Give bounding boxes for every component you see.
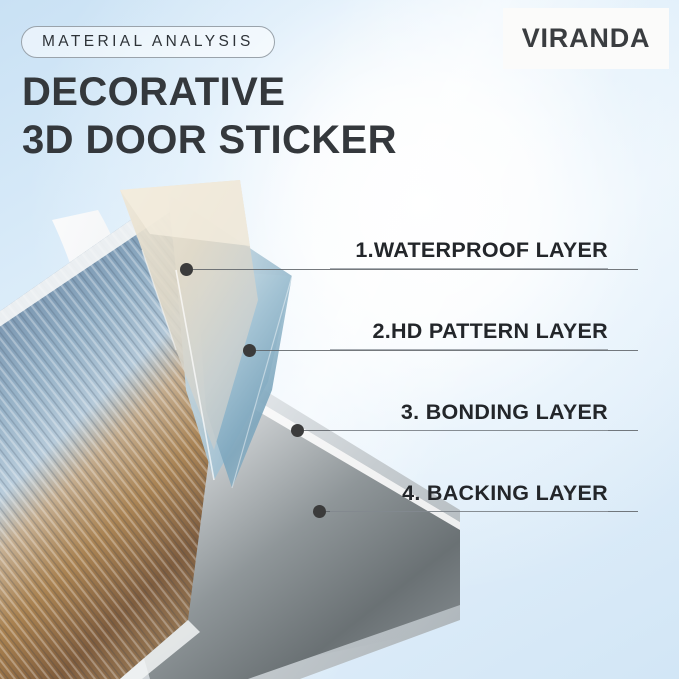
layer-dot-1 — [180, 263, 193, 276]
layer-dot-4 — [313, 505, 326, 518]
layer-label-3-text: 3. BONDING LAYER — [330, 400, 608, 425]
layer-dot-2 — [243, 344, 256, 357]
material-analysis-badge: MATERIAL ANALYSIS — [21, 26, 275, 58]
page-title-line-1: DECORATIVE — [22, 68, 482, 116]
leader-line-2 — [256, 350, 638, 351]
layer-label-1: 1.WATERPROOF LAYER — [330, 238, 608, 269]
layer-label-4-rule — [330, 511, 608, 512]
layer-label-1-rule — [330, 268, 608, 269]
brand-logo: VIRANDA — [503, 8, 669, 69]
page-title-line-2: 3D DOOR STICKER — [22, 116, 482, 164]
layer-label-2: 2.HD PATTERN LAYER — [330, 319, 608, 350]
layer-label-3-rule — [330, 430, 608, 431]
page-title: DECORATIVE 3D DOOR STICKER — [22, 68, 482, 164]
poster-canvas: 1.WATERPROOF LAYER 2.HD PATTERN LAYER 3.… — [0, 0, 679, 679]
layer-label-2-rule — [330, 349, 608, 350]
layer-label-4: 4. BACKING LAYER — [330, 481, 608, 512]
brand-logo-text: VIRANDA — [522, 23, 651, 54]
leader-line-1 — [193, 269, 638, 270]
layer-dot-3 — [291, 424, 304, 437]
layer-label-2-text: 2.HD PATTERN LAYER — [330, 319, 608, 344]
layer-label-1-text: 1.WATERPROOF LAYER — [330, 238, 608, 263]
layer-label-4-text: 4. BACKING LAYER — [330, 481, 608, 506]
material-analysis-badge-label: MATERIAL ANALYSIS — [42, 33, 254, 51]
layer-label-3: 3. BONDING LAYER — [330, 400, 608, 431]
